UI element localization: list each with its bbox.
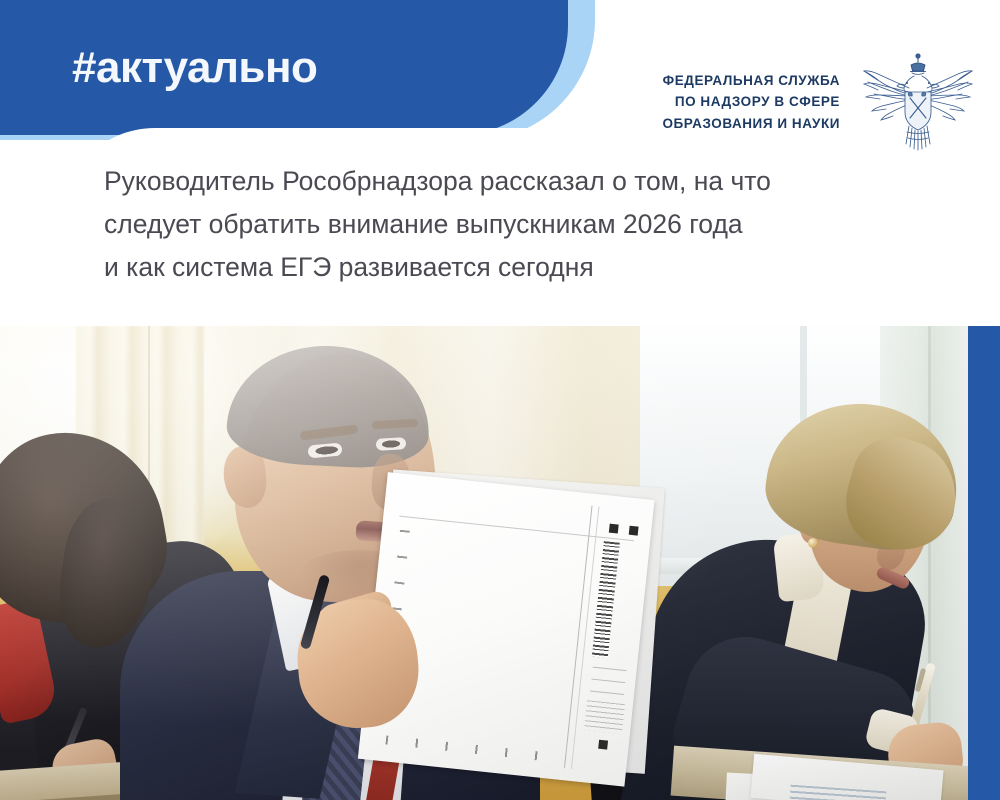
headline-text: Руководитель Рособрнадзора рассказал о т… xyxy=(104,160,894,289)
hero-photo xyxy=(0,326,968,800)
exam-paper-field-2 xyxy=(591,679,625,684)
center-man-eye-right xyxy=(376,437,407,451)
exam-paper-fine-print xyxy=(584,700,625,734)
hashtag-label: #актуально xyxy=(72,46,317,90)
org-line-2: ПО НАДЗОРУ В СФЕРЕ xyxy=(662,91,840,112)
exam-paper-bottom-ticks xyxy=(385,735,565,763)
headline-line-3: и как система ЕГЭ развивается сегодня xyxy=(104,246,894,289)
headline-line-2: следует обратить внимание выпускникам 20… xyxy=(104,203,894,246)
exam-paper-field-1 xyxy=(593,667,627,672)
org-line-3: ОБРАЗОВАНИЯ И НАУКИ xyxy=(662,113,840,134)
poster-root: #актуально ФЕДЕРАЛЬНАЯ СЛУЖБА ПО НАДЗОРУ… xyxy=(0,0,1000,800)
exam-paper-field-3 xyxy=(590,691,624,696)
headline-line-1: Руководитель Рособрнадзора рассказал о т… xyxy=(104,160,894,203)
blue-edge-strip xyxy=(968,326,1000,800)
exam-paper-top-rule xyxy=(399,516,634,542)
exam-paper-barcode xyxy=(592,541,620,658)
double-headed-eagle-icon xyxy=(854,52,982,152)
exam-paper-registration-mark-2 xyxy=(629,526,639,536)
exam-paper-registration-mark-3 xyxy=(598,740,608,750)
right-woman-earring xyxy=(808,538,818,548)
organization-logo: ФЕДЕРАЛЬНАЯ СЛУЖБА ПО НАДЗОРУ В СФЕРЕ ОБ… xyxy=(662,52,982,152)
right-woman-figure xyxy=(672,386,968,800)
exam-paper-registration-mark-1 xyxy=(609,524,619,534)
organization-name: ФЕДЕРАЛЬНАЯ СЛУЖБА ПО НАДЗОРУ В СФЕРЕ ОБ… xyxy=(662,70,840,134)
header-zone: #актуально ФЕДЕРАЛЬНАЯ СЛУЖБА ПО НАДЗОРУ… xyxy=(0,0,1000,330)
org-line-1: ФЕДЕРАЛЬНАЯ СЛУЖБА xyxy=(662,70,840,91)
classroom-scene xyxy=(0,326,968,800)
